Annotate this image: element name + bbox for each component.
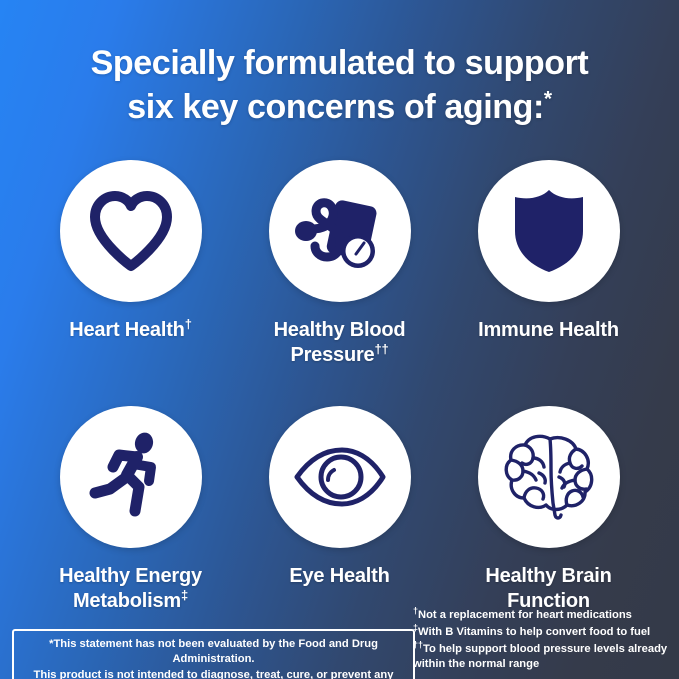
- benefit-label-mark: ††: [374, 341, 388, 356]
- shield-icon: [510, 187, 588, 275]
- icon-disc: [269, 406, 411, 548]
- benefit-label-text: Immune Health: [478, 319, 619, 341]
- disclaimer-line-2: This product is not intended to diagnose…: [34, 669, 394, 679]
- benefit-item-heart-health: Heart Health†: [26, 160, 235, 368]
- benefit-label-mark: †: [185, 316, 192, 331]
- benefit-label: Immune Health: [478, 318, 619, 343]
- disclaimer-line-1: This statement has not been evaluated by…: [53, 638, 377, 665]
- benefit-grid: Heart Health†: [26, 160, 653, 614]
- icon-disc: [60, 406, 202, 548]
- fda-disclaimer: *This statement has not been evaluated b…: [12, 629, 415, 679]
- icon-disc: [269, 160, 411, 302]
- benefit-label: Heart Health†: [69, 318, 191, 343]
- footnote-text: To help support blood pressure levels al…: [413, 643, 667, 670]
- benefit-item-immune-health: Immune Health: [444, 160, 653, 368]
- heart-icon: [87, 190, 175, 272]
- benefit-item-eye-health: Eye Health: [235, 406, 444, 614]
- benefit-label: Healthy Energy Metabolism‡: [36, 564, 226, 614]
- benefit-label-mark: ‡: [181, 587, 188, 602]
- footnote-item: ††To help support blood pressure levels …: [413, 642, 669, 672]
- benefit-label: Healthy Brain Function: [454, 564, 644, 614]
- footnote-text: Not a replacement for heart medications: [418, 609, 632, 621]
- icon-disc: [60, 160, 202, 302]
- eye-icon: [292, 446, 388, 508]
- page-title: Specially formulated to support six key …: [0, 42, 679, 129]
- benefit-item-healthy-brain-function: Healthy Brain Function: [444, 406, 653, 614]
- footnote-item: ‡With B Vitamins to help convert food to…: [413, 625, 669, 640]
- footnote-item: †Not a replacement for heart medications: [413, 608, 669, 623]
- headline-asterisk: *: [544, 87, 552, 110]
- brain-icon: [501, 431, 597, 523]
- benefit-label-text: Heart Health: [69, 319, 184, 341]
- promo-infographic: Specially formulated to support six key …: [0, 0, 679, 679]
- benefit-item-healthy-energy-metabolism: Healthy Energy Metabolism‡: [26, 406, 235, 614]
- blood-pressure-monitor-icon: [294, 189, 386, 273]
- icon-disc: [478, 160, 620, 302]
- headline-line-2: six key concerns of aging:: [127, 88, 544, 126]
- headline-line-1: Specially formulated to support: [91, 44, 589, 82]
- running-person-icon: [87, 431, 175, 523]
- benefit-label: Eye Health: [289, 564, 389, 589]
- footnote-list: †Not a replacement for heart medications…: [413, 608, 669, 674]
- footnote-text: With B Vitamins to help convert food to …: [418, 626, 650, 638]
- benefit-item-healthy-blood-pressure: Healthy Blood Pressure††: [235, 160, 444, 368]
- icon-disc: [478, 406, 620, 548]
- benefit-label: Healthy Blood Pressure††: [245, 318, 435, 368]
- benefit-label-text: Eye Health: [289, 565, 389, 587]
- benefit-label-text: Healthy Brain Function: [485, 565, 611, 612]
